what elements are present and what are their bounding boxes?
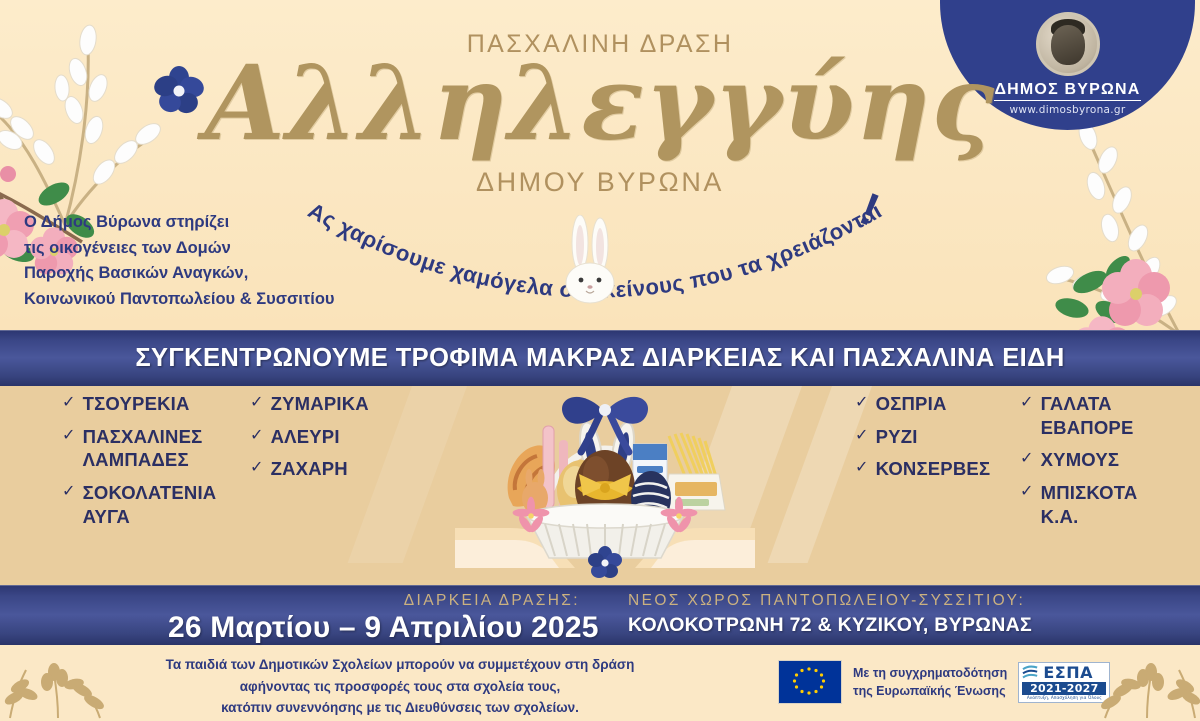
schools-note: Τα παιδιά των Δημοτικών Σχολείων μπορούν… <box>105 654 695 719</box>
list-item: ✓ ΧΥΜΟΥΣ <box>1020 448 1190 472</box>
schools-note-line-2: αφήνοντας τις προσφορές τους στα σχολεία… <box>105 676 695 698</box>
check-icon: ✓ <box>62 425 76 447</box>
duration-label: ΔΙΑΡΚΕΙΑ ΔΡΑΣΗΣ: <box>168 592 580 610</box>
list-item: ✓ ΜΠΙΣΚΟΤΑ Κ.Α. <box>1020 481 1190 528</box>
list-item: ✓ ΖΑΧΑΡΗ <box>250 457 410 481</box>
list-item: ✓ ΑΛΕΥΡΙ <box>250 425 410 449</box>
list-item-label: ΤΣΟΥΡΕΚΙΑ <box>83 392 190 416</box>
page-title: Αλληλεγγύης <box>0 52 1200 155</box>
list-item-label: ΚΟΝΣΕΡΒΕΣ <box>876 457 991 481</box>
check-icon: ✓ <box>250 457 264 479</box>
list-item: ✓ ΡΥΖΙ <box>855 425 1020 449</box>
check-icon: ✓ <box>1020 392 1034 414</box>
check-icon: ✓ <box>62 392 76 414</box>
list-item: ✓ ΖΥΜΑΡΙΚΑ <box>250 392 410 416</box>
eu-funding-line-2: της Ευρωπαϊκής Ένωσης <box>853 682 1007 700</box>
venue-label: ΝΕΟΣ ΧΩΡΟΣ ΠΑΝΤΟΠΩΛΕΙΟΥ-ΣΥΣΣΙΤΙΟΥ: <box>628 592 1088 610</box>
list-item-label: ΖΥΜΑΡΙΚΑ <box>271 392 369 416</box>
schools-note-line-1: Τα παιδιά των Δημοτικών Σχολείων μπορούν… <box>105 654 695 676</box>
list-item-label: ΣΟΚΟΛΑΤΕΝΙΑ ΑΥΓΑ <box>83 481 217 528</box>
list-item-label: ΡΥΖΙ <box>876 425 918 449</box>
check-icon: ✓ <box>62 481 76 503</box>
collection-banner-text: ΣΥΓΚΕΝΤΡΩΝΟΥΜΕ ΤΡΟΦΙΜΑ ΜΑΚΡΑΣ ΔΙΑΡΚΕΙΑΣ … <box>135 344 1064 373</box>
foliage-silhouette-icon <box>1075 650 1200 720</box>
list-item: ✓ ΤΣΟΥΡΕΚΙΑ <box>62 392 237 416</box>
duration-value: 26 Μαρτίου – 9 Απριλίου 2025 <box>168 611 580 645</box>
list-item-label: ΠΑΣΧΑΛΙΝΕΣ ΛΑΜΠΑΔΕΣ <box>83 425 203 472</box>
venue-block: ΝΕΟΣ ΧΩΡΟΣ ΠΑΝΤΟΠΩΛΕΙΟΥ-ΣΥΣΣΙΤΙΟΥ: ΚΟΛΟΚ… <box>628 592 1088 637</box>
bunny-icon <box>555 215 625 305</box>
check-icon: ✓ <box>1020 448 1034 470</box>
venue-address: ΚΟΛΟΚΟΤΡΩΝΗ 72 & ΚΥΖΙΚΟΥ, ΒΥΡΩΝΑΣ <box>628 614 1088 637</box>
checklist-column-4: ✓ ΓΑΛΑΤΑ ΕΒΑΠΟΡΕ ✓ ΧΥΜΟΥΣ ✓ ΜΠΙΣΚΟΤΑ Κ.Α… <box>1020 392 1190 537</box>
checklist-column-3: ✓ ΟΣΠΡΙΑ ✓ ΡΥΖΙ ✓ ΚΟΝΣΕΡΒΕΣ <box>855 392 1020 490</box>
list-item: ✓ ΣΟΚΟΛΑΤΕΝΙΑ ΑΥΓΑ <box>62 481 237 528</box>
list-item-label: ΖΑΧΑΡΗ <box>271 457 348 481</box>
easter-solidarity-poster: ΔΗΜΟΣ ΒΥΡΩΝΑ www.dimosbyrona.gr ΠΑΣΧΑΛΙΝ… <box>0 0 1200 721</box>
list-item: ✓ ΚΟΝΣΕΡΒΕΣ <box>855 457 1020 481</box>
list-item: ✓ ΓΑΛΑΤΑ ΕΒΑΠΟΡΕ <box>1020 392 1190 439</box>
check-icon: ✓ <box>855 457 869 479</box>
list-item-label: ΟΣΠΡΙΑ <box>876 392 947 416</box>
eu-funding-text: Με τη συγχρηματοδότηση της Ευρωπαϊκής Έν… <box>853 664 1007 700</box>
list-item-label: ΧΥΜΟΥΣ <box>1041 448 1120 472</box>
funding-logos: Με τη συγχρηματοδότηση της Ευρωπαϊκής Έν… <box>778 660 1110 704</box>
espa-wave-icon <box>1022 665 1039 680</box>
eu-flag-icon <box>778 660 842 704</box>
easter-gift-basket-icon <box>455 378 755 578</box>
check-icon: ✓ <box>855 425 869 447</box>
check-icon: ✓ <box>855 392 869 414</box>
check-icon: ✓ <box>1020 481 1034 503</box>
duration-block: ΔΙΑΡΚΕΙΑ ΔΡΑΣΗΣ: 26 Μαρτίου – 9 Απριλίου… <box>168 592 580 645</box>
checklist-column-1: ✓ ΤΣΟΥΡΕΚΙΑ ✓ ΠΑΣΧΑΛΙΝΕΣ ΛΑΜΠΑΔΕΣ ✓ ΣΟΚΟ… <box>62 392 237 537</box>
list-item: ✓ ΟΣΠΡΙΑ <box>855 392 1020 416</box>
schools-note-line-3: κατόπιν συνεννόησης με τις Διευθύνσεις τ… <box>105 697 695 719</box>
check-icon: ✓ <box>250 392 264 414</box>
list-item: ✓ ΠΑΣΧΑΛΙΝΕΣ ΛΑΜΠΑΔΕΣ <box>62 425 237 472</box>
check-icon: ✓ <box>250 425 264 447</box>
list-item-label: ΜΠΙΣΚΟΤΑ Κ.Α. <box>1041 481 1138 528</box>
foliage-silhouette-icon <box>0 650 130 720</box>
checklist-column-2: ✓ ΖΥΜΑΡΙΚΑ ✓ ΑΛΕΥΡΙ ✓ ΖΑΧΑΡΗ <box>250 392 410 490</box>
eu-funding-line-1: Με τη συγχρηματοδότηση <box>853 664 1007 682</box>
list-item-label: ΑΛΕΥΡΙ <box>271 425 340 449</box>
list-item-label: ΓΑΛΑΤΑ ΕΒΑΠΟΡΕ <box>1041 392 1134 439</box>
